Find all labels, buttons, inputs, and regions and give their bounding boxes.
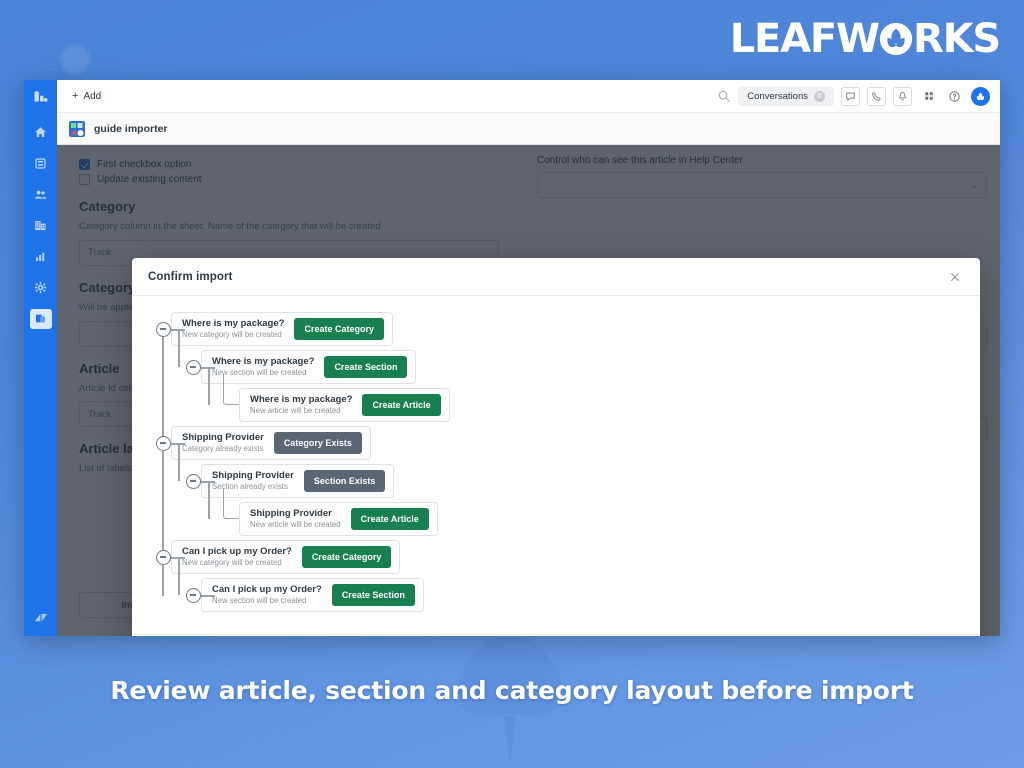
tree-node-title: Where is my package? bbox=[212, 356, 314, 368]
tree-node-text: Where is my package?New category will be… bbox=[182, 318, 284, 340]
tree-node-status-badge: Section Exists bbox=[304, 470, 386, 492]
tree-connector-line bbox=[208, 367, 210, 405]
tree-node: Where is my package?New category will be… bbox=[156, 310, 980, 348]
chat-icon[interactable] bbox=[841, 87, 860, 106]
sidebar-item-organizations[interactable] bbox=[24, 210, 57, 241]
sidebar-item-views[interactable] bbox=[24, 148, 57, 179]
leaf-avatar-icon[interactable] bbox=[971, 87, 990, 106]
tree-node-status-badge: Create Section bbox=[332, 584, 415, 606]
product-logo-icon[interactable] bbox=[24, 80, 57, 113]
topbar-actions: Conversations 0 bbox=[717, 87, 990, 106]
tree-node-subtitle: New article will be created bbox=[250, 406, 352, 416]
tree-collapse-icon[interactable] bbox=[156, 322, 171, 337]
breadcrumb-title: guide importer bbox=[94, 123, 168, 135]
tree-node: Where is my package?New section will be … bbox=[186, 348, 980, 386]
tree-collapse-icon[interactable] bbox=[186, 474, 201, 489]
tree-node-title: Where is my package? bbox=[250, 394, 352, 406]
close-icon[interactable] bbox=[946, 268, 964, 286]
tree-node-subtitle: New article will be created bbox=[250, 520, 341, 530]
tree-collapse-icon[interactable] bbox=[156, 436, 171, 451]
tree-node-card[interactable]: Can I pick up my Order?New section will … bbox=[201, 578, 424, 612]
sidebar-item-customers[interactable] bbox=[24, 179, 57, 210]
tree-node: Can I pick up my Order?New section will … bbox=[186, 576, 980, 614]
tree-node-title: Shipping Provider bbox=[182, 432, 264, 444]
app-icon bbox=[30, 309, 52, 329]
apps-grid-icon[interactable] bbox=[919, 87, 938, 106]
modal-title: Confirm import bbox=[148, 271, 232, 283]
guide-importer-icon bbox=[69, 121, 85, 137]
tree-node-status-badge: Create Article bbox=[362, 394, 440, 416]
tree-elbow-line bbox=[223, 374, 239, 405]
conversations-pill[interactable]: Conversations 0 bbox=[738, 87, 834, 106]
sidebar-nav-list bbox=[24, 117, 57, 334]
plus-icon: + bbox=[72, 91, 78, 102]
tree-collapse-icon[interactable] bbox=[186, 360, 201, 375]
help-icon[interactable] bbox=[945, 87, 964, 106]
modal-body: Where is my package?New category will be… bbox=[132, 296, 980, 634]
tree-node-subtitle: New category will be created bbox=[182, 558, 292, 568]
tree-node-status-badge: Create Category bbox=[302, 546, 392, 568]
sidebar-item-reporting[interactable] bbox=[24, 241, 57, 272]
sidebar-item-guide-importer[interactable] bbox=[24, 303, 57, 334]
tree-node-status-badge: Create Article bbox=[351, 508, 429, 530]
modal-header: Confirm import bbox=[132, 258, 980, 296]
tree-collapse-icon[interactable] bbox=[186, 588, 201, 603]
tree-node-card[interactable]: Where is my package?New article will be … bbox=[239, 388, 450, 422]
tree-node-text: Can I pick up my Order?New section will … bbox=[212, 584, 322, 606]
tree-elbow-line bbox=[223, 488, 239, 519]
tree-node: Shipping ProviderNew article will be cre… bbox=[216, 500, 980, 538]
left-sidebar bbox=[24, 80, 57, 636]
bell-icon[interactable] bbox=[893, 87, 912, 106]
brand-logo: LEAFWORKS LEAFW RKS bbox=[730, 16, 1000, 62]
tree-node-card[interactable]: Where is my package?New category will be… bbox=[171, 312, 393, 346]
tree-node-card[interactable]: Shipping ProviderNew article will be cre… bbox=[239, 502, 438, 536]
tree-node: Where is my package?New article will be … bbox=[216, 386, 980, 424]
tree-rows: Where is my package?New category will be… bbox=[156, 310, 980, 614]
tree-node-status-badge: Create Category bbox=[294, 318, 384, 340]
add-button-label: Add bbox=[83, 91, 101, 102]
tree-node-card[interactable]: Shipping ProviderCategory already exists… bbox=[171, 426, 371, 460]
tree-connector-line bbox=[178, 329, 180, 367]
phone-icon[interactable] bbox=[867, 87, 886, 106]
tree-node-title: Shipping Provider bbox=[212, 470, 294, 482]
tree-node-title: Where is my package? bbox=[182, 318, 284, 330]
sidebar-item-admin[interactable] bbox=[24, 272, 57, 303]
sidebar-item-home[interactable] bbox=[24, 117, 57, 148]
tree-node-text: Shipping ProviderCategory already exists bbox=[182, 432, 264, 454]
tree-node-subtitle: New section will be created bbox=[212, 596, 322, 606]
background-watermark-circle bbox=[62, 46, 88, 72]
tree-node-card[interactable]: Can I pick up my Order?New category will… bbox=[171, 540, 400, 574]
modal-footer: Cancel Confirm bbox=[132, 634, 980, 636]
tree-connector-line bbox=[178, 443, 180, 481]
tree-node-text: Can I pick up my Order?New category will… bbox=[182, 546, 292, 568]
tree-node-subtitle: New category will be created bbox=[182, 330, 284, 340]
tree-connector-line bbox=[208, 481, 210, 519]
tree-node-text: Where is my package?New article will be … bbox=[250, 394, 352, 416]
leaf-mark-icon bbox=[877, 20, 915, 58]
tree-connector-line bbox=[201, 595, 215, 597]
tree-node: Shipping ProviderSection already existsS… bbox=[186, 462, 980, 500]
brand-word-leafw: LEAFW bbox=[730, 16, 879, 62]
tree-node-title: Can I pick up my Order? bbox=[212, 584, 322, 596]
caption-text: Review article, section and category lay… bbox=[0, 676, 1024, 705]
tree-node-status-badge: Create Section bbox=[324, 356, 407, 378]
tree-node-status-badge: Category Exists bbox=[274, 432, 362, 454]
import-tree: Where is my package?New category will be… bbox=[132, 310, 980, 614]
breadcrumb: guide importer bbox=[57, 113, 1000, 145]
tree-node-text: Shipping ProviderNew article will be cre… bbox=[250, 508, 341, 530]
tree-node-title: Can I pick up my Order? bbox=[182, 546, 292, 558]
tree-node: Shipping ProviderCategory already exists… bbox=[156, 424, 980, 462]
application-window: + Add Conversations 0 bbox=[24, 80, 1000, 636]
add-button[interactable]: + Add bbox=[67, 88, 106, 105]
conversations-label: Conversations bbox=[747, 91, 808, 102]
tree-node-subtitle: Category already exists bbox=[182, 444, 264, 454]
tree-collapse-icon[interactable] bbox=[156, 550, 171, 565]
tree-connector-line bbox=[178, 557, 180, 595]
zendesk-logo-icon[interactable] bbox=[24, 610, 57, 626]
brand-word-rks: RKS bbox=[913, 16, 1000, 62]
conversations-count-badge: 0 bbox=[814, 91, 825, 102]
search-icon[interactable] bbox=[717, 89, 731, 103]
top-bar: + Add Conversations 0 bbox=[57, 80, 1000, 113]
tree-node-title: Shipping Provider bbox=[250, 508, 341, 520]
confirm-import-modal: Confirm import Where is my package?New c… bbox=[132, 258, 980, 636]
tree-node: Can I pick up my Order?New category will… bbox=[156, 538, 980, 576]
